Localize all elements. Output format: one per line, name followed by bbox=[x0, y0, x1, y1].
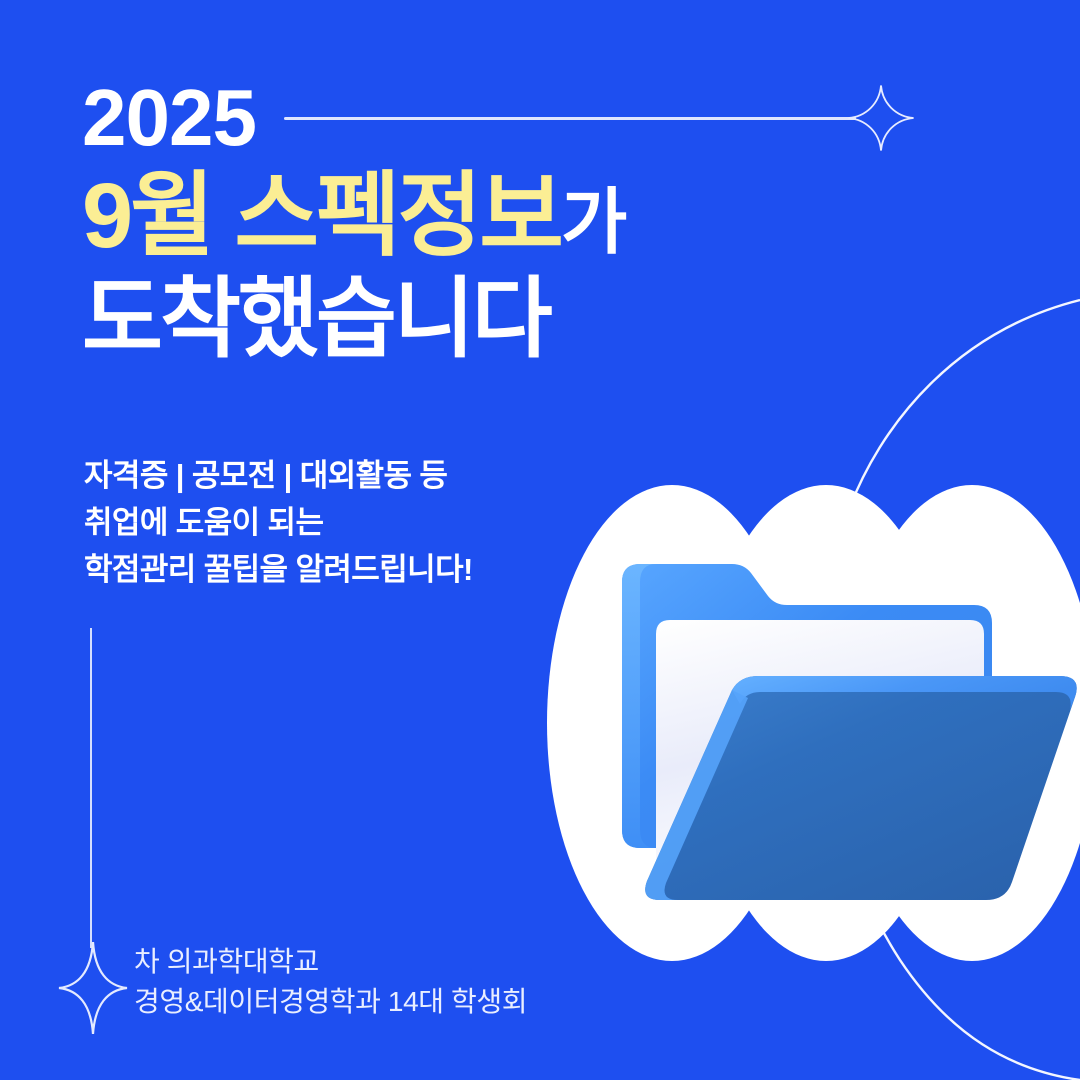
headline-line-2-main: 도착했습니다 bbox=[82, 269, 550, 368]
footer-line-1: 차 의과학대학교 bbox=[134, 942, 527, 982]
headline-line-1: 9월 스펙정보가 bbox=[82, 168, 982, 266]
body-copy: 자격증 | 공모전 | 대외활동 등 취업에 도움이 되는 학점관리 꿀팁을 알… bbox=[84, 452, 473, 593]
headline-line-2: 도착했습니다 bbox=[82, 272, 982, 365]
folder-icon bbox=[582, 530, 1080, 930]
body-copy-line-3: 학점관리 꿀팁을 알려드립니다! bbox=[84, 546, 473, 593]
body-copy-line-1: 자격증 | 공모전 | 대외활동 등 bbox=[84, 452, 473, 499]
footer-credits: 차 의과학대학교 경영&데이터경영학과 14대 학생회 bbox=[134, 942, 527, 1022]
year-label: 2025 bbox=[82, 78, 256, 158]
illustration-group bbox=[540, 455, 1080, 975]
body-copy-line-2: 취업에 도움이 되는 bbox=[84, 499, 473, 546]
year-row: 2025 bbox=[82, 72, 982, 164]
headline-block: 2025 9월 스펙정보가 도착했습니다 bbox=[82, 72, 982, 365]
headline-line-1-suffix: 가 bbox=[561, 183, 625, 263]
sparkle-four-point-icon bbox=[844, 81, 918, 155]
poster-canvas: 2025 9월 스펙정보가 도착했습니다 자격증 | 공모전 | 대외활동 등 … bbox=[0, 0, 1080, 1080]
horizontal-rule-icon bbox=[284, 117, 856, 120]
footer-line-2: 경영&데이터경영학과 14대 학생회 bbox=[134, 982, 527, 1022]
headline-line-1-main: 9월 스펙정보 bbox=[82, 165, 561, 267]
vertical-rule-icon bbox=[90, 628, 92, 948]
sparkle-four-point-icon-footer bbox=[58, 942, 128, 1034]
